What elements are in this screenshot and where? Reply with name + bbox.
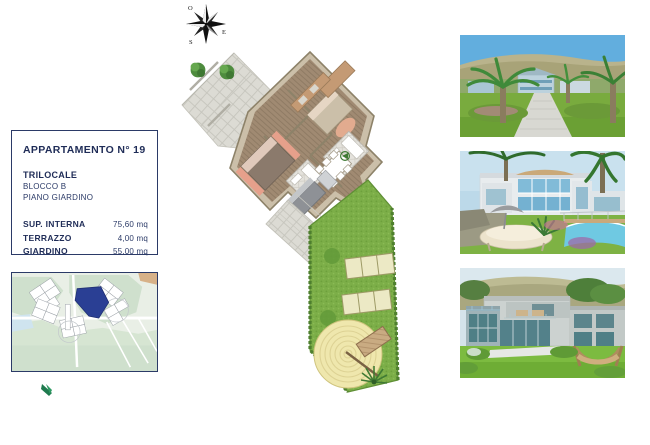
compass-label-south: S xyxy=(189,39,193,46)
photo-1-graphic xyxy=(460,35,625,137)
compass-label-west: O xyxy=(188,5,193,12)
apartment-info-box: APPARTAMENTO N° 19 TRILOCALE BLOCCO B PI… xyxy=(11,130,158,255)
area-row: GIARDINO 55,00 mq xyxy=(23,245,148,259)
area-table: SUP. INTERNA 75,60 mq TERRAZZO 4,00 mq G… xyxy=(23,218,148,259)
area-label-terrazzo: TERRAZZO xyxy=(23,232,72,245)
photo-3-graphic xyxy=(460,268,625,378)
photo-2-graphic xyxy=(460,151,625,254)
apartment-floor-plan xyxy=(160,50,450,395)
corner-logo-mark xyxy=(40,383,56,397)
photo-resort-walkway xyxy=(460,35,625,137)
unit-type-label: TRILOCALE xyxy=(23,169,148,181)
area-label-giardino: GIARDINO xyxy=(23,245,68,258)
area-row: SUP. INTERNA 75,60 mq xyxy=(23,218,148,232)
tree-1 xyxy=(191,63,206,78)
area-value-sup-interna: 75,60 mq xyxy=(113,219,148,232)
keymap-graphic xyxy=(12,273,157,371)
site-plan-key-map xyxy=(11,272,158,372)
block-label: BLOCCO B xyxy=(23,181,148,192)
compass-rose: O E S xyxy=(181,2,233,48)
compass-label-east: E xyxy=(222,29,226,36)
tree-2 xyxy=(220,65,235,80)
corner-mark-graphic xyxy=(40,383,56,397)
compass-graphic: O E S xyxy=(181,2,233,48)
photo-villa-garden xyxy=(460,268,625,378)
document-sheet: APPARTAMENTO N° 19 TRILOCALE BLOCCO B PI… xyxy=(0,0,650,445)
floor-label: PIANO GIARDINO xyxy=(23,192,148,203)
area-value-terrazzo: 4,00 mq xyxy=(118,233,148,246)
floor-plan-graphic xyxy=(160,50,450,395)
shrub-1 xyxy=(324,248,340,264)
area-row: TERRAZZO 4,00 mq xyxy=(23,232,148,246)
area-label-sup-interna: SUP. INTERNA xyxy=(23,218,85,231)
page-title: APPARTAMENTO N° 19 xyxy=(23,144,148,156)
photo-villa-pool xyxy=(460,151,625,254)
area-value-giardino: 55,00 mq xyxy=(113,246,148,259)
